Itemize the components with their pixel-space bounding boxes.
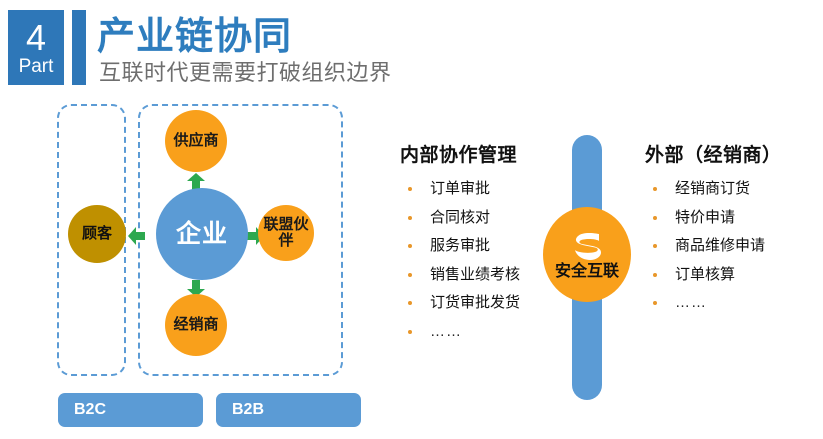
node-partner[interactable]: 联盟伙伴 [258,205,314,261]
b2c-label: B2C [74,401,106,419]
node-supplier-label: 供应商 [165,133,227,149]
b2b-box[interactable]: B2B [216,393,361,427]
node-partner-label: 联盟伙伴 [258,217,314,249]
internal-bullet-list: 订单审批 合同核对 服务审批 销售业绩考核 订货审批发货 …… [400,181,565,340]
b2b-label: B2B [232,401,264,419]
value-chain-diagram: 供应商 联盟伙伴 经销商 顾客 企业 B2C B2B [0,0,400,439]
secure-link-logo-icon [569,230,605,262]
internal-collaboration-column: 内部协作管理 订单审批 合同核对 服务审批 销售业绩考核 订货审批发货 …… [400,140,565,352]
list-item: 销售业绩考核 [400,267,565,284]
b2c-box[interactable]: B2C [58,393,203,427]
external-bullet-list: 经销商订货 特价申请 商品维修申请 订单核算 …… [645,181,823,312]
arrow-left-icon [128,226,145,246]
external-dealer-column: 外部（经销商） 经销商订货 特价申请 商品维修申请 订单核算 …… [645,140,823,324]
list-item: …… [645,295,823,312]
node-dealer-label: 经销商 [165,317,227,333]
list-item: 订单审批 [400,181,565,198]
external-heading: 外部（经销商） [645,140,823,167]
list-item: 订单核算 [645,267,823,284]
list-item: …… [400,324,565,341]
node-customer-label: 顾客 [68,226,126,242]
list-item: 服务审批 [400,238,565,255]
secure-link-badge-text: 安全互联 [555,264,619,280]
list-item: 合同核对 [400,210,565,227]
list-item: 经销商订货 [645,181,823,198]
list-item: 特价申请 [645,210,823,227]
list-item: 订货审批发货 [400,295,565,312]
node-customer[interactable]: 顾客 [68,205,126,263]
node-dealer[interactable]: 经销商 [165,294,227,356]
node-enterprise-core[interactable]: 企业 [156,188,248,280]
node-supplier[interactable]: 供应商 [165,110,227,172]
list-item: 商品维修申请 [645,238,823,255]
node-enterprise-label: 企业 [156,221,248,247]
secure-link-badge[interactable]: 安全互联 [543,207,631,302]
internal-heading: 内部协作管理 [400,140,565,167]
